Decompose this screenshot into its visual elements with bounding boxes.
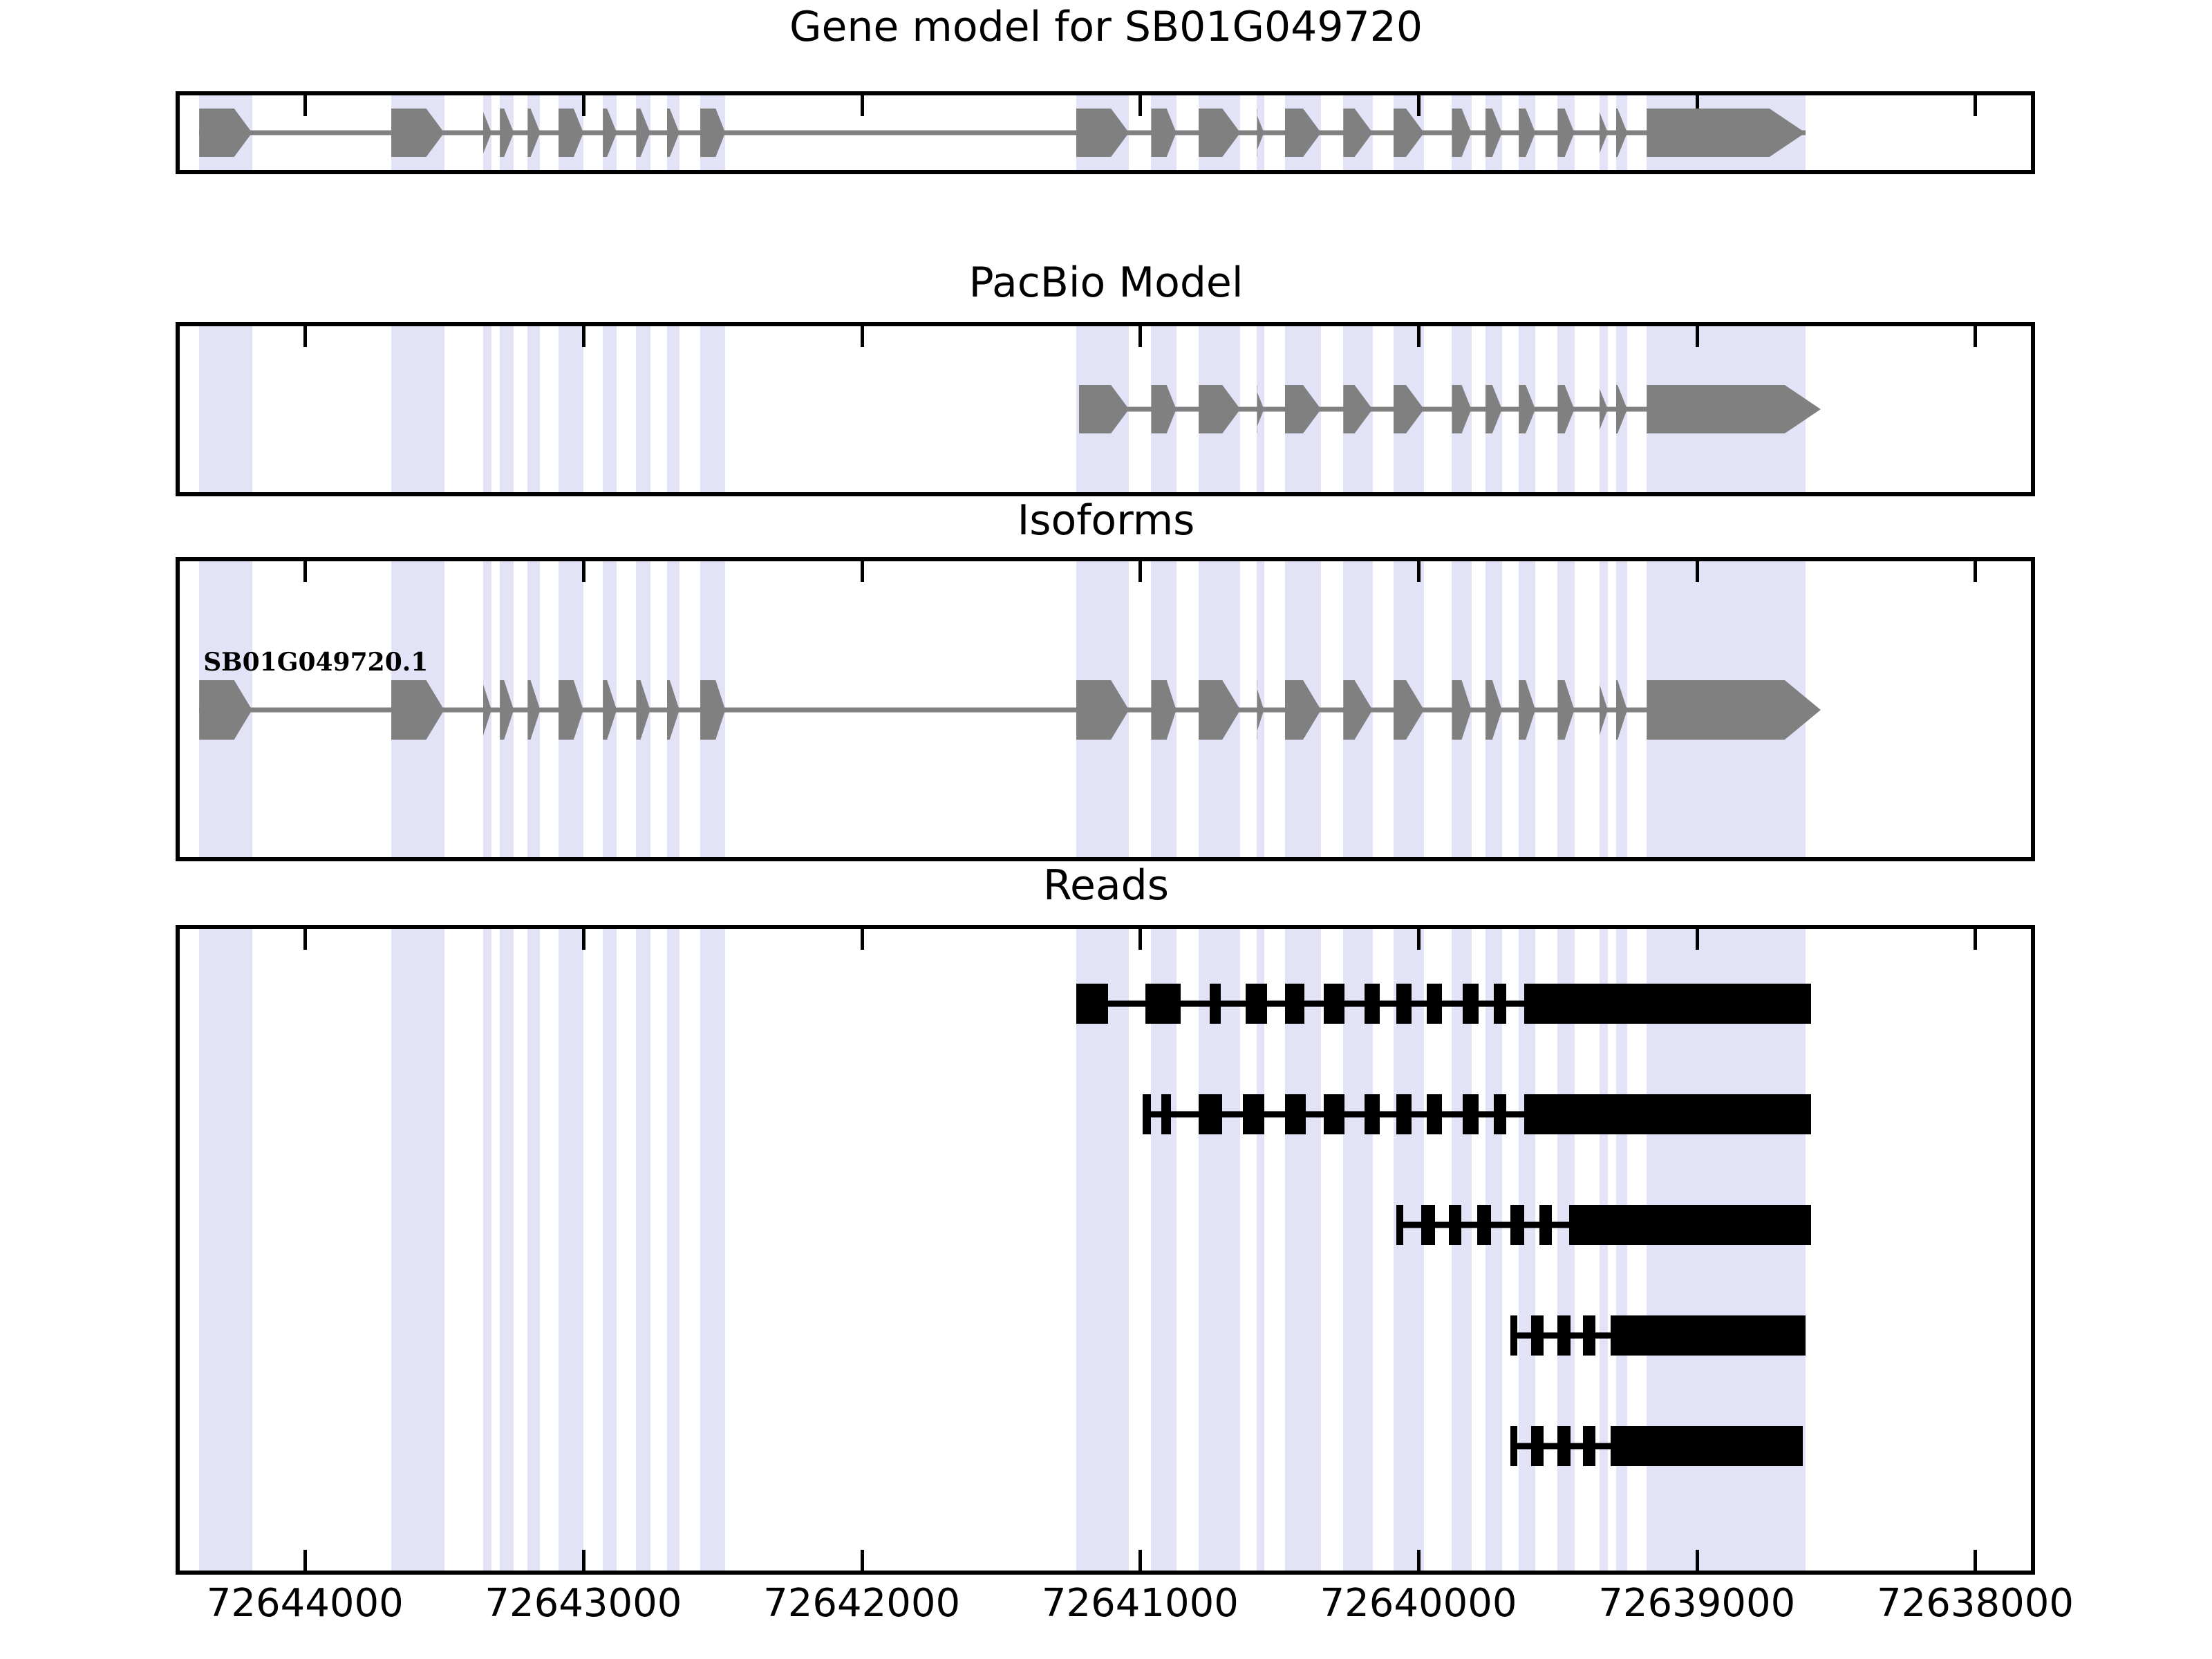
highlight-band xyxy=(1285,929,1321,1571)
highlight-band xyxy=(667,929,679,1571)
exon-block xyxy=(1557,1426,1570,1466)
highlight-band xyxy=(527,929,540,1571)
x-axis-tick-label: 72644000 xyxy=(207,1583,404,1624)
panel-isoforms: SB01G049720.1 xyxy=(176,557,2035,861)
axis-tick xyxy=(582,1550,585,1571)
exon-block xyxy=(1143,1094,1151,1134)
axis-tick xyxy=(861,326,864,347)
exon-block xyxy=(1569,1205,1811,1245)
exon-block xyxy=(1365,984,1380,1024)
highlight-band xyxy=(1557,929,1574,1571)
axis-tick xyxy=(582,95,585,116)
exon-block xyxy=(1199,1094,1222,1134)
exon-block xyxy=(1524,1094,1811,1134)
exon-block xyxy=(1396,1205,1403,1245)
exon-block xyxy=(1494,984,1506,1024)
highlight-band xyxy=(1452,929,1471,1571)
highlight-band xyxy=(603,929,617,1571)
exon-block xyxy=(1647,680,1821,740)
exon-block xyxy=(1285,984,1304,1024)
exon-block xyxy=(1557,1315,1570,1356)
exon-block xyxy=(1510,1315,1517,1356)
exon-block xyxy=(1396,984,1412,1024)
axis-tick xyxy=(1138,929,1142,950)
exon-block xyxy=(1365,1094,1380,1134)
axis-tick xyxy=(303,929,307,950)
axis-tick xyxy=(303,561,307,582)
highlight-band xyxy=(1257,929,1264,1571)
axis-tick xyxy=(303,326,307,347)
highlight-band xyxy=(636,326,650,492)
x-axis-tick-label: 72642000 xyxy=(763,1583,960,1624)
highlight-band xyxy=(1076,929,1130,1571)
axis-tick xyxy=(1696,929,1699,950)
highlight-band xyxy=(1616,929,1627,1571)
exon-block xyxy=(1210,984,1221,1024)
axis-tick xyxy=(1974,95,1977,116)
exon-block xyxy=(1611,1315,1806,1356)
exon-block xyxy=(1427,984,1442,1024)
figure-title: Gene model for SB01G049720 xyxy=(0,6,2212,48)
x-axis-tick-label: 72639000 xyxy=(1598,1583,1795,1624)
axis-tick xyxy=(582,929,585,950)
axis-tick xyxy=(1138,1550,1142,1571)
highlight-band xyxy=(391,326,444,492)
axis-tick xyxy=(1417,929,1421,950)
highlight-band xyxy=(667,326,679,492)
highlight-band xyxy=(199,326,252,492)
exon-block xyxy=(1246,984,1266,1024)
axis-tick xyxy=(861,95,864,116)
highlight-band xyxy=(700,929,725,1571)
highlight-band xyxy=(559,929,583,1571)
exon-block xyxy=(1076,984,1108,1024)
panel-title-pacbio: PacBio Model xyxy=(0,261,2212,304)
exon-block xyxy=(1494,1094,1506,1134)
exon-block xyxy=(1161,1094,1171,1134)
exon-block xyxy=(1583,1426,1595,1466)
highlight-band xyxy=(1151,929,1176,1571)
x-axis-tick-label: 72641000 xyxy=(1042,1583,1239,1624)
highlight-band xyxy=(1199,929,1240,1571)
axis-tick xyxy=(582,561,585,582)
highlight-band xyxy=(1600,929,1608,1571)
highlight-band xyxy=(1394,929,1424,1571)
exon-block xyxy=(1324,984,1344,1024)
highlight-band xyxy=(1343,929,1372,1571)
exon-block xyxy=(1611,1426,1803,1466)
x-axis-tick-label: 72638000 xyxy=(1877,1583,2074,1624)
panel-pacbio-model xyxy=(176,322,2035,496)
axis-tick xyxy=(861,561,864,582)
axis-tick xyxy=(582,326,585,347)
highlight-band xyxy=(1647,929,1806,1571)
exon-block xyxy=(1510,1205,1524,1245)
x-axis-tick-label: 72640000 xyxy=(1320,1583,1517,1624)
highlight-band xyxy=(559,326,583,492)
highlight-band xyxy=(636,929,650,1571)
axis-tick xyxy=(1974,561,1977,582)
exon-block xyxy=(1427,1094,1442,1134)
exon-block xyxy=(1285,1094,1306,1134)
x-axis-labels: 7264400072643000726420007264100072640000… xyxy=(0,1583,2212,1638)
axis-tick xyxy=(1696,1550,1699,1571)
highlight-band xyxy=(700,326,725,492)
axis-tick xyxy=(1696,561,1699,582)
exon-block xyxy=(1463,1094,1478,1134)
axis-tick xyxy=(861,929,864,950)
axis-tick xyxy=(1974,1550,1977,1571)
exon-block xyxy=(1477,1205,1491,1245)
exon-block xyxy=(1647,385,1821,433)
axis-tick xyxy=(1138,326,1142,347)
panel-title-isoforms: Isoforms xyxy=(0,499,2212,542)
exon-block xyxy=(1145,984,1180,1024)
panel-gene-model xyxy=(176,91,2035,174)
axis-tick xyxy=(1417,1550,1421,1571)
panel-title-reads: Reads xyxy=(0,864,2212,907)
highlight-band xyxy=(483,929,491,1571)
highlight-band xyxy=(391,929,444,1571)
highlight-band xyxy=(500,326,514,492)
highlight-band xyxy=(500,929,514,1571)
axis-tick xyxy=(1417,95,1421,116)
isoform-label: SB01G049720.1 xyxy=(203,650,428,675)
exon-block xyxy=(1531,1315,1544,1356)
exon-block xyxy=(1243,1094,1264,1134)
highlight-band xyxy=(483,326,491,492)
highlight-band xyxy=(199,929,252,1571)
exon-block xyxy=(1510,1426,1517,1466)
exon-block xyxy=(1324,1094,1344,1134)
exon-block xyxy=(1396,1094,1412,1134)
axis-tick xyxy=(303,95,307,116)
exon-block xyxy=(1524,984,1811,1024)
highlight-band xyxy=(527,326,540,492)
axis-tick xyxy=(1138,561,1142,582)
axis-tick xyxy=(303,1550,307,1571)
exon-block xyxy=(1449,1205,1461,1245)
axis-tick xyxy=(1696,326,1699,347)
axis-tick xyxy=(1974,326,1977,347)
exon-block xyxy=(1463,984,1478,1024)
exon-block xyxy=(1421,1205,1435,1245)
exon-block xyxy=(1539,1205,1552,1245)
highlight-band xyxy=(603,326,617,492)
gene-browser-figure: Gene model for SB01G049720 PacBio Model … xyxy=(0,0,2212,1659)
axis-tick xyxy=(1417,326,1421,347)
highlight-band xyxy=(1519,929,1535,1571)
exon-block xyxy=(1531,1426,1544,1466)
axis-tick xyxy=(861,1550,864,1571)
x-axis-tick-label: 72643000 xyxy=(485,1583,682,1624)
highlight-band xyxy=(1485,929,1502,1571)
panel-reads xyxy=(176,925,2035,1575)
axis-tick xyxy=(1974,929,1977,950)
axis-tick xyxy=(1138,95,1142,116)
axis-tick xyxy=(1417,561,1421,582)
exon-block xyxy=(1583,1315,1595,1356)
